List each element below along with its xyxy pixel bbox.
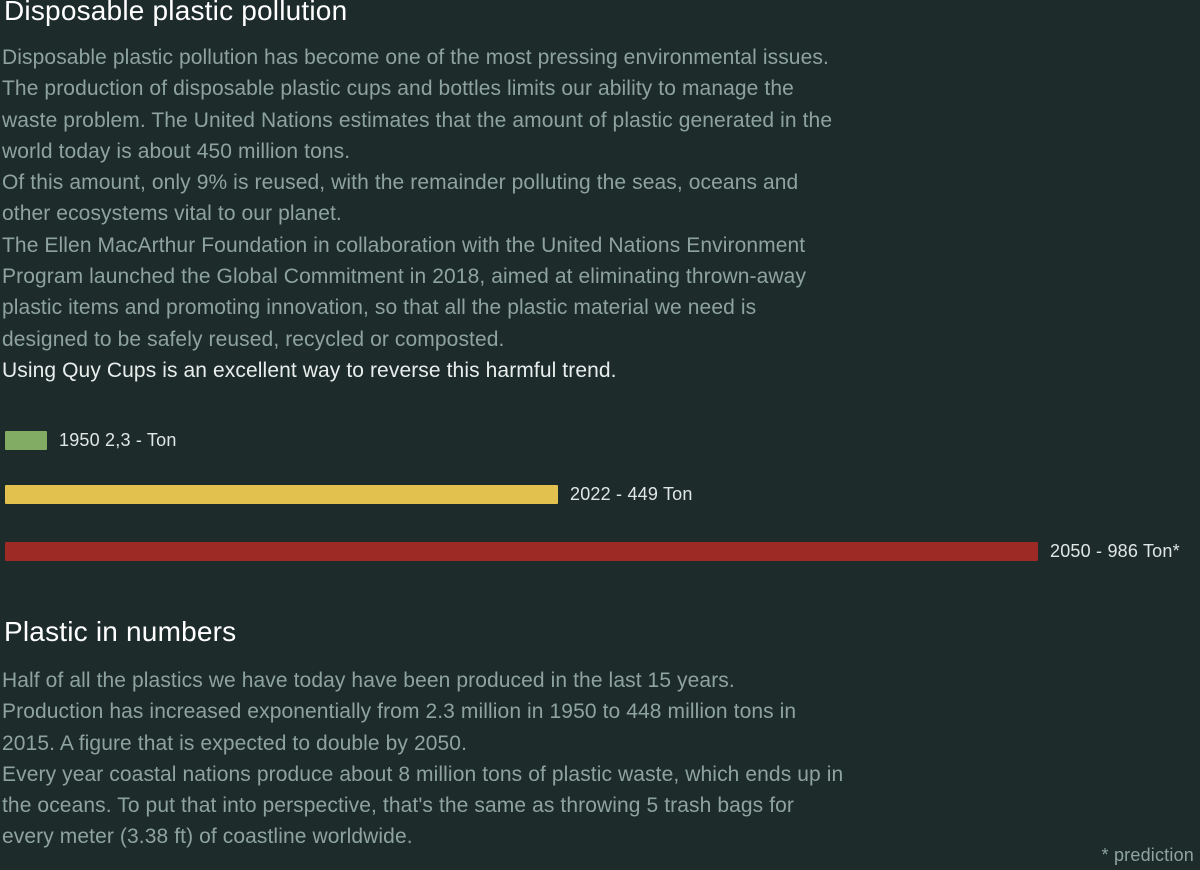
bar-1950 (5, 431, 47, 450)
numbers-paragraph-1: Half of all the plastics we have today h… (0, 665, 1170, 759)
infographic-page: Disposable plastic pollution Disposable … (0, 0, 1200, 870)
bar-2022 (5, 485, 558, 504)
section-title-plastic-in-numbers: Plastic in numbers (2, 617, 236, 647)
numbers-text-block: Half of all the plastics we have today h… (0, 665, 1170, 853)
bar-label-2050: 2050 - 986 Ton* (1050, 542, 1180, 561)
intro-paragraph-2: Of this amount, only 9% is reused, with … (0, 167, 1160, 230)
chart-row-2050: 2050 - 986 Ton* (0, 542, 1200, 561)
plastic-production-bar-chart: 1950 2,3 - Ton 2022 - 449 Ton 2050 - 986… (0, 420, 1200, 585)
intro-paragraph-3: The Ellen MacArthur Foundation in collab… (0, 230, 1160, 355)
bar-label-2022: 2022 - 449 Ton (570, 485, 693, 504)
intro-text-block: Disposable plastic pollution has become … (0, 42, 1160, 386)
bar-label-1950: 1950 2,3 - Ton (59, 431, 177, 450)
numbers-paragraph-2: Every year coastal nations produce about… (0, 759, 1170, 853)
chart-row-1950: 1950 2,3 - Ton (0, 431, 1200, 450)
intro-paragraph-highlight: Using Quy Cups is an excellent way to re… (0, 355, 1160, 386)
intro-paragraph-1: Disposable plastic pollution has become … (0, 42, 1160, 167)
prediction-footnote: * prediction (1102, 844, 1194, 866)
chart-row-2022: 2022 - 449 Ton (0, 485, 1200, 504)
bar-2050 (5, 542, 1038, 561)
page-title: Disposable plastic pollution (2, 0, 347, 26)
